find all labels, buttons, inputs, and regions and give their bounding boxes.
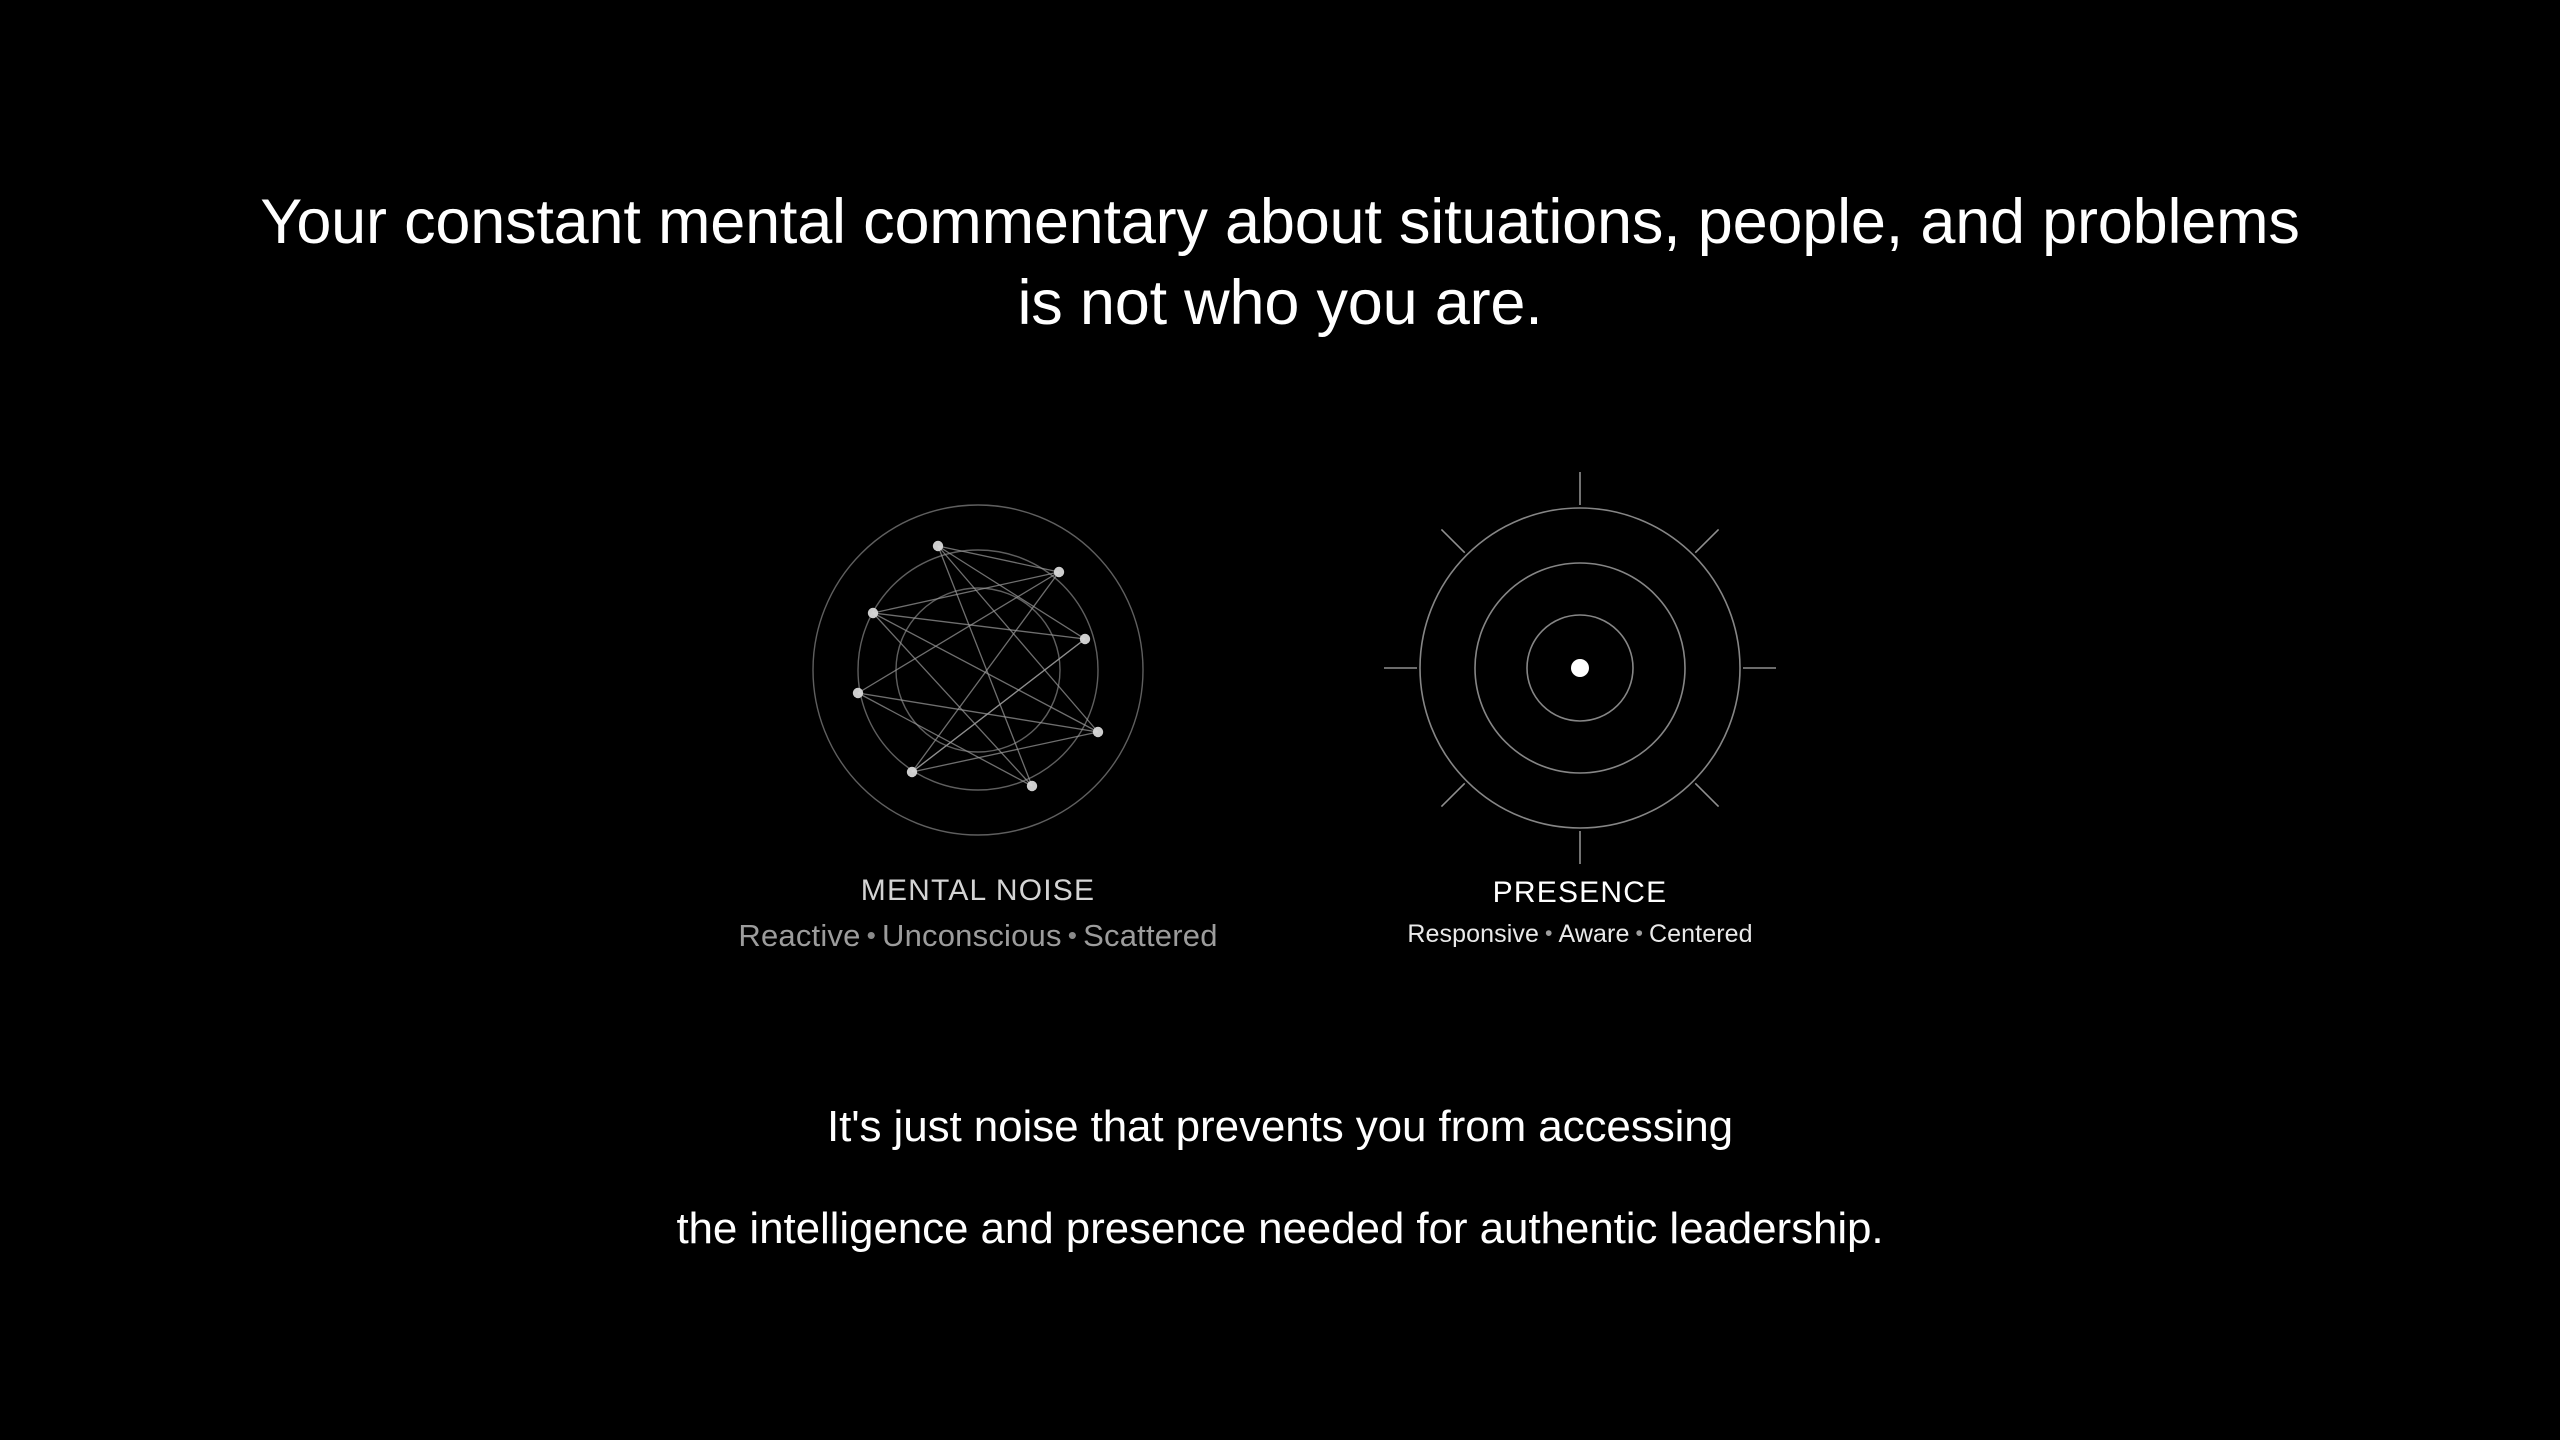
noise-node-0	[933, 541, 943, 551]
subtitle-term: Reactive	[738, 918, 860, 953]
noise-node-7	[1027, 781, 1037, 791]
bullet-separator-icon: •	[1062, 920, 1083, 950]
noise-edge-6	[873, 613, 1085, 639]
subtitle-term: Responsive	[1407, 920, 1539, 948]
presence-diagram	[1384, 472, 1776, 864]
noise-node-1	[1054, 567, 1064, 577]
presence-tick-3	[1695, 783, 1718, 806]
noise-edge-12	[912, 732, 1098, 772]
presence-tick-1	[1695, 529, 1718, 552]
noise-edge-0	[938, 546, 1085, 639]
bullet-separator-icon: •	[1629, 921, 1649, 945]
mental-noise-diagram	[813, 505, 1143, 835]
presence-title: PRESENCE	[1290, 874, 1870, 912]
noise-node-6	[907, 767, 917, 777]
presence-tick-5	[1441, 783, 1464, 806]
slide-canvas: Your constant mental commentary about si…	[0, 0, 2560, 1440]
bottom-copy-line-2: the intelligence and presence needed for…	[0, 1207, 2560, 1251]
presence-subtitle: Responsive•Aware•Centered	[1290, 918, 1870, 951]
headline-line-1: Your constant mental commentary about si…	[0, 182, 2560, 263]
subtitle-term: Unconscious	[882, 918, 1062, 953]
presence-center-dot	[1571, 659, 1589, 677]
bullet-separator-icon: •	[861, 920, 882, 950]
subtitle-term: Aware	[1559, 920, 1630, 948]
bottom-copy-line-1: It's just noise that prevents you from a…	[0, 1105, 2560, 1149]
caption-presence: PRESENCE Responsive•Aware•Centered	[1290, 874, 1870, 951]
caption-mental-noise: MENTAL NOISE Reactive•Unconscious•Scatte…	[578, 872, 1378, 957]
noise-node-2	[868, 608, 878, 618]
mental-noise-title: MENTAL NOISE	[578, 872, 1378, 910]
presence-tick-7	[1441, 529, 1464, 552]
diagram-band	[0, 470, 2560, 890]
bottom-copy: It's just noise that prevents you from a…	[0, 1105, 2560, 1251]
mental-noise-subtitle: Reactive•Unconscious•Scattered	[578, 916, 1378, 956]
noise-node-5	[1093, 727, 1103, 737]
bullet-separator-icon: •	[1539, 921, 1559, 945]
noise-node-3	[1080, 634, 1090, 644]
subtitle-term: Centered	[1649, 920, 1753, 948]
headline-line-2: is not who you are.	[0, 263, 2560, 344]
noise-edge-1	[938, 546, 1032, 786]
diagrams-svg	[0, 470, 2560, 890]
subtitle-term: Scattered	[1083, 918, 1218, 953]
noise-edge-2	[938, 546, 1059, 572]
page-title: Your constant mental commentary about si…	[0, 182, 2560, 343]
noise-node-4	[853, 688, 863, 698]
noise-ring-2	[858, 550, 1098, 790]
